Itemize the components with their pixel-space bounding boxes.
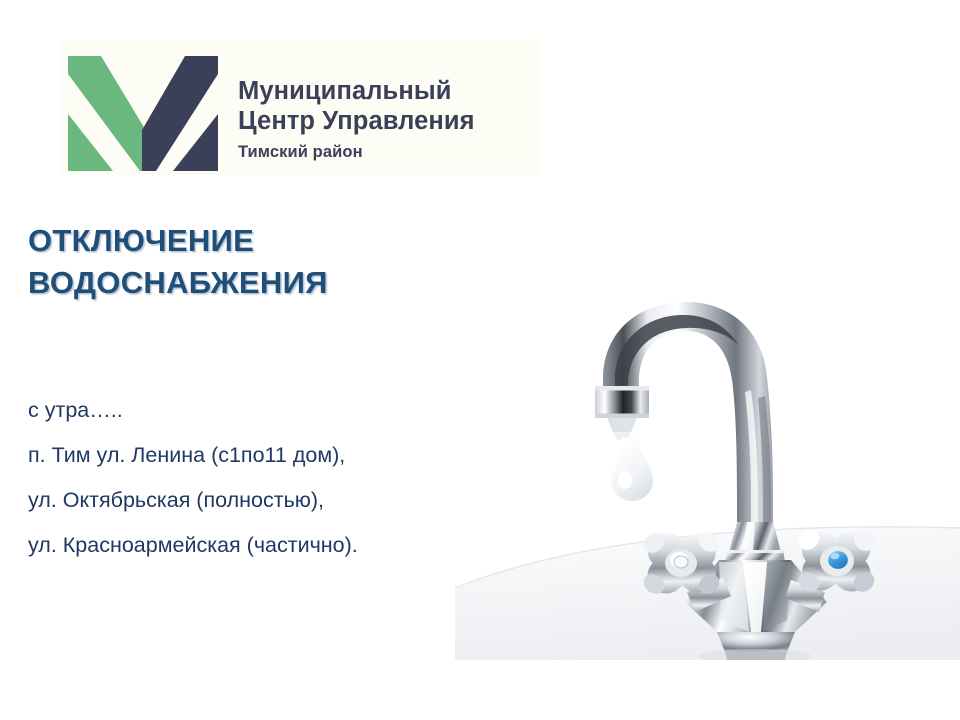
chrome-kitchen-faucet-photo (455, 240, 960, 660)
announcement-body: с утра….. п. Тим ул. Ленина (с1по11 дом)… (28, 388, 498, 568)
logo-subtitle: Тимский район (238, 142, 538, 162)
body-line: ул. Красноармейская (частично). (28, 523, 498, 568)
body-line: ул. Октябрьская (полностью), (28, 478, 498, 523)
logo-line-1: Муниципальный (238, 76, 538, 106)
m-chevron-logo-mark (68, 56, 218, 171)
logo-line-2: Центр Управления (238, 106, 538, 136)
page-title-line-1: ОТКЛЮЧЕНИЕ (28, 220, 458, 262)
page-title-line-2: ВОДОСНАБЖЕНИЯ (28, 262, 458, 304)
page-title: ОТКЛЮЧЕНИЕ ВОДОСНАБЖЕНИЯ (28, 220, 458, 304)
slide-canvas: Муниципальный Центр Управления Тимский р… (0, 0, 960, 720)
body-line: с утра….. (28, 388, 498, 433)
body-line: п. Тим ул. Ленина (с1по11 дом), (28, 433, 498, 478)
logo-wordmark: Муниципальный Центр Управления Тимский р… (238, 76, 538, 162)
